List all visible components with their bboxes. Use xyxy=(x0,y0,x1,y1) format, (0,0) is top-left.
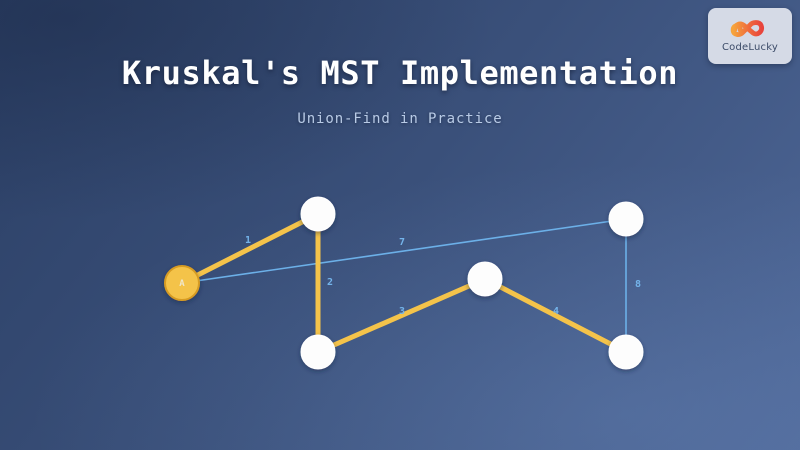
edge-weight-CD: 3 xyxy=(399,306,405,317)
graph-node-E[interactable] xyxy=(609,202,643,236)
page-subtitle: Union-Find in Practice xyxy=(0,91,800,127)
logo-wordmark: CodeLucky xyxy=(722,43,778,53)
graph-node-C[interactable] xyxy=(301,335,335,369)
graph-node-D[interactable] xyxy=(468,262,502,296)
edge-label-layer: 123478 xyxy=(245,235,641,317)
infinity-icon xyxy=(729,19,771,41)
node-layer: A xyxy=(165,197,643,369)
page-title: Kruskal's MST Implementation xyxy=(0,0,800,91)
graph-node-F[interactable] xyxy=(609,335,643,369)
edge-weight-DF: 4 xyxy=(553,306,559,317)
codelucky-logo-badge[interactable]: CodeLucky xyxy=(708,8,792,64)
edge-weight-BC: 2 xyxy=(327,277,333,288)
graph-node-label-A: A xyxy=(179,279,185,289)
slide-canvas: CodeLucky Kruskal's MST Implementation U… xyxy=(0,0,800,450)
edge-weight-EF: 8 xyxy=(635,279,641,290)
heading-block: Kruskal's MST Implementation Union-Find … xyxy=(0,0,800,127)
edge-weight-AB: 1 xyxy=(245,235,251,246)
graph-node-B[interactable] xyxy=(301,197,335,231)
edge-weight-AE: 7 xyxy=(399,237,405,248)
